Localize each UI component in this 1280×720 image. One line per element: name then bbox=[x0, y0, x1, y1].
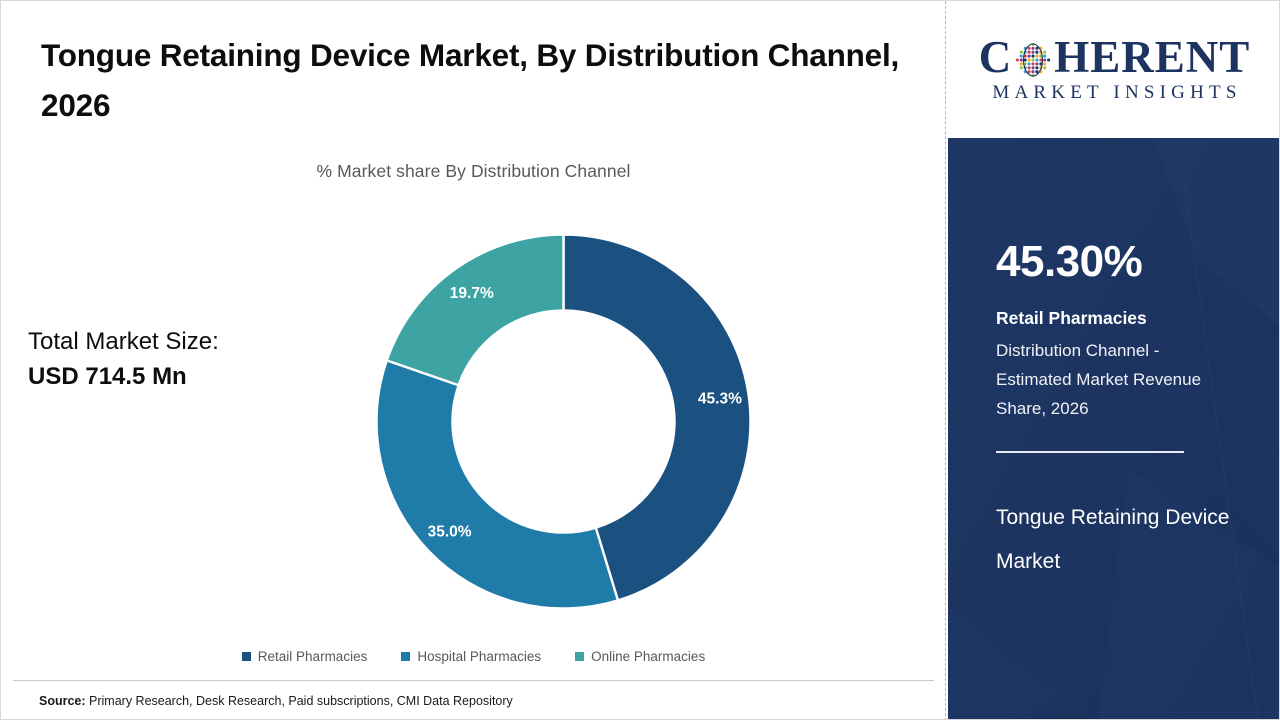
source-label: Source: bbox=[39, 694, 86, 708]
globe-dot bbox=[1028, 58, 1031, 61]
globe-dot bbox=[1028, 70, 1031, 73]
footer-divider bbox=[13, 680, 934, 681]
globe-dot bbox=[1028, 46, 1031, 49]
total-market-size-block: Total Market Size: USD 714.5 Mn bbox=[28, 325, 328, 395]
legend-item[interactable]: Retail Pharmacies bbox=[242, 649, 368, 664]
globe-dot bbox=[1020, 50, 1023, 53]
chart-subtitle: % Market share By Distribution Channel bbox=[1, 161, 946, 182]
globe-dot bbox=[1043, 62, 1046, 65]
infographic-page: Tongue Retaining Device Market, By Distr… bbox=[0, 0, 1280, 720]
globe-dot bbox=[1036, 62, 1039, 65]
donut-chart-svg: 45.3%35.0%19.7% bbox=[371, 229, 756, 614]
sidebar-panel: 45.30% Retail Pharmacies Distribution Ch… bbox=[948, 138, 1280, 720]
globe-dot bbox=[1047, 58, 1050, 61]
market-name: Tongue Retaining Device Market bbox=[996, 496, 1241, 584]
brand-logo: C HERENT MARKET INSIGHTS bbox=[948, 1, 1280, 138]
donut-slice-label: 45.3% bbox=[698, 391, 742, 408]
globe-dot bbox=[1028, 50, 1031, 53]
globe-dot bbox=[1028, 66, 1031, 69]
globe-dot bbox=[1036, 66, 1039, 69]
globe-dot bbox=[1039, 58, 1042, 61]
page-title: Tongue Retaining Device Market, By Distr… bbox=[41, 31, 911, 131]
main-content: Tongue Retaining Device Market, By Distr… bbox=[1, 1, 946, 720]
legend-item[interactable]: Hospital Pharmacies bbox=[401, 649, 541, 664]
legend-item[interactable]: Online Pharmacies bbox=[575, 649, 705, 664]
legend-label: Online Pharmacies bbox=[591, 649, 705, 664]
legend-swatch-icon bbox=[242, 652, 251, 661]
globe-dot bbox=[1036, 70, 1039, 73]
stat-segment-name: Retail Pharmacies bbox=[996, 308, 1147, 329]
globe-dot bbox=[1043, 54, 1046, 57]
globe-dot bbox=[1020, 54, 1023, 57]
total-market-size-value: USD 714.5 Mn bbox=[28, 360, 328, 395]
globe-dot bbox=[1028, 54, 1031, 57]
sidebar: C HERENT MARKET INSIGHTS bbox=[948, 1, 1280, 720]
globe-dot bbox=[1032, 50, 1035, 53]
donut-slice-label: 35.0% bbox=[428, 524, 472, 541]
globe-dot bbox=[1020, 66, 1023, 69]
globe-dot bbox=[1020, 58, 1023, 61]
vertical-dashed-divider bbox=[945, 1, 946, 720]
globe-dot bbox=[1036, 50, 1039, 53]
globe-dot bbox=[1024, 58, 1027, 61]
logo-wordmark: C HERENT bbox=[979, 35, 1251, 80]
globe-dot bbox=[1032, 70, 1035, 73]
globe-dot bbox=[1036, 58, 1039, 61]
stat-description: Distribution Channel - Estimated Market … bbox=[996, 336, 1226, 424]
globe-dot bbox=[1043, 50, 1046, 53]
sidebar-panel-content: 45.30% Retail Pharmacies Distribution Ch… bbox=[996, 138, 1256, 720]
logo-tagline: MARKET INSIGHTS bbox=[987, 82, 1241, 104]
donut-slice bbox=[377, 360, 618, 608]
globe-dot bbox=[1036, 46, 1039, 49]
donut-slice-label: 19.7% bbox=[450, 285, 494, 302]
legend-swatch-icon bbox=[401, 652, 410, 661]
globe-dot bbox=[1032, 66, 1035, 69]
globe-dot bbox=[1043, 66, 1046, 69]
globe-dot bbox=[1020, 62, 1023, 65]
globe-dots-icon-svg bbox=[1013, 40, 1053, 80]
globe-dots-icon bbox=[1013, 40, 1053, 80]
source-note: Source: Primary Research, Desk Research,… bbox=[39, 694, 513, 708]
source-text: Primary Research, Desk Research, Paid su… bbox=[86, 694, 513, 708]
legend-label: Hospital Pharmacies bbox=[417, 649, 541, 664]
total-market-size-label: Total Market Size: bbox=[28, 325, 328, 360]
globe-dot bbox=[1028, 62, 1031, 65]
legend-label: Retail Pharmacies bbox=[258, 649, 368, 664]
legend-swatch-icon bbox=[575, 652, 584, 661]
globe-dot bbox=[1032, 54, 1035, 57]
globe-dot bbox=[1036, 54, 1039, 57]
globe-dot bbox=[1032, 58, 1035, 61]
chart-legend: Retail PharmaciesHospital PharmaciesOnli… bbox=[1, 649, 946, 664]
globe-dot bbox=[1032, 62, 1035, 65]
donut-slice bbox=[387, 235, 564, 386]
sidebar-divider bbox=[996, 451, 1184, 453]
logo-letters-herent: HERENT bbox=[1054, 35, 1250, 80]
globe-dot bbox=[1043, 58, 1046, 61]
globe-dot bbox=[1016, 58, 1019, 61]
logo-letter-c: C bbox=[979, 35, 1013, 80]
stat-percentage: 45.30% bbox=[996, 240, 1142, 284]
donut-chart: 45.3%35.0%19.7% bbox=[371, 229, 756, 614]
globe-dot bbox=[1032, 46, 1035, 49]
